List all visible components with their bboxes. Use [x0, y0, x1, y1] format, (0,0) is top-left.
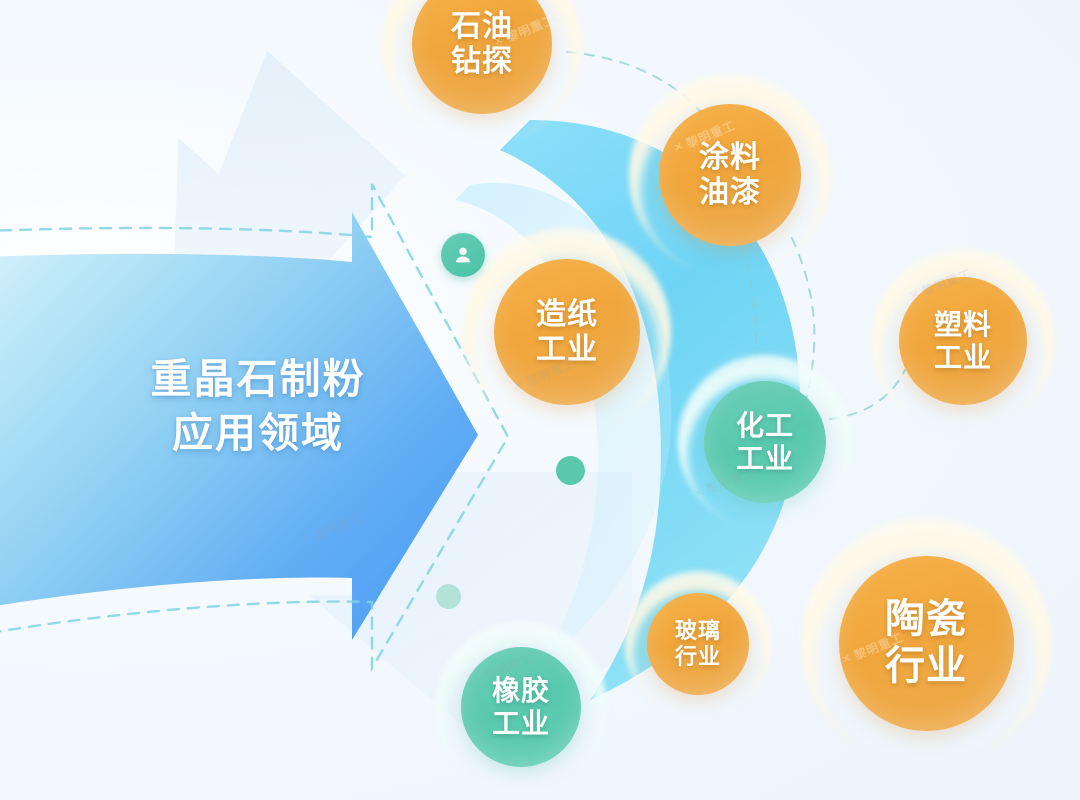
bubble-label-glass-industry: 玻璃 行业 — [675, 618, 721, 670]
bubble-label-paper-industry: 造纸 工业 — [536, 297, 598, 368]
watermark-mark: ✕ — [300, 531, 314, 547]
bubble-petroleum-drilling[interactable]: 石油 钻探 — [382, 0, 582, 144]
watermark-brand: 黎明重工 — [311, 508, 366, 543]
person-badge[interactable] — [441, 233, 485, 277]
person-icon — [452, 244, 474, 266]
infographic-canvas: 重晶石制粉 应用领域 石油 钻探 涂料 油漆 造纸 工业 塑料 工业 化工 工业… — [0, 0, 1080, 800]
decorative-dot-large — [556, 456, 585, 485]
bubble-label-rubber-industry: 橡胶 工业 — [492, 674, 550, 740]
watermark-arrow: ✕ 黎明重工 — [299, 508, 366, 548]
bubble-coatings-paint[interactable]: 涂料 油漆 — [629, 74, 831, 276]
bubble-rubber-industry[interactable]: 橡胶 工业 — [435, 621, 607, 793]
bubble-chemical-industry[interactable]: 化工 工业 — [678, 355, 852, 529]
bubble-label-coatings-paint: 涂料 油漆 — [699, 140, 761, 211]
bubble-label-petroleum-drilling: 石油 钻探 — [451, 9, 513, 80]
bubble-ceramics-industry[interactable]: 陶瓷 行业 — [801, 518, 1051, 768]
decorative-dot-small — [436, 584, 461, 609]
bubble-plastics-industry[interactable]: 塑料 工业 — [871, 249, 1055, 433]
page-title: 重晶石制粉 应用领域 — [108, 352, 408, 460]
bubble-label-ceramics-industry: 陶瓷 行业 — [885, 596, 967, 690]
bubble-paper-industry[interactable]: 造纸 工业 — [463, 228, 671, 436]
bubble-glass-industry[interactable]: 玻璃 行业 — [625, 571, 771, 717]
bubble-label-chemical-industry: 化工 工业 — [736, 409, 794, 475]
page-title-line-2: 应用领域 — [108, 406, 408, 460]
page-title-line-1: 重晶石制粉 — [108, 352, 408, 406]
bubble-label-plastics-industry: 塑料 工业 — [934, 308, 992, 374]
